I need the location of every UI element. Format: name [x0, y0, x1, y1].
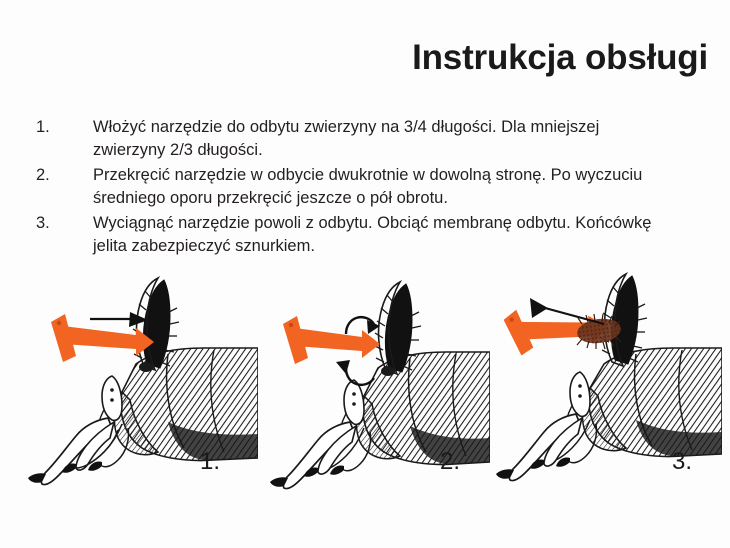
list-item-number: 2. [36, 164, 93, 187]
figure-caption-1: 1. [200, 448, 220, 476]
deer-hindquarters-insert-tool-icon [18, 272, 258, 502]
list-item: 1. Włożyć narzędzie do odbytu zwierzyny … [36, 116, 676, 162]
arrow-right-icon [90, 312, 148, 327]
figure-step-1 [18, 272, 258, 502]
tool-shape [283, 316, 380, 364]
list-item-text: Włożyć narzędzie do odbytu zwierzyny na … [93, 116, 676, 162]
figure-caption-2: 2. [440, 448, 460, 476]
list-item-number: 1. [36, 116, 93, 139]
instruction-list: 1. Włożyć narzędzie do odbytu zwierzyny … [36, 116, 676, 260]
list-item: 2. Przekręcić narzędzie w odbycie dwukro… [36, 164, 676, 210]
list-item: 3. Wyciągnąć narzędzie powoli z odbytu. … [36, 212, 676, 258]
page-title: Instrukcja obsługi [412, 38, 708, 78]
list-item-text: Wyciągnąć narzędzie powoli z odbytu. Obc… [93, 212, 676, 258]
list-item-number: 3. [36, 212, 93, 235]
figure-row [0, 272, 730, 502]
list-item-text: Przekręcić narzędzie w odbycie dwukrotni… [93, 164, 676, 210]
figure-caption-3: 3. [672, 448, 692, 476]
arrow-left-icon [530, 298, 604, 324]
